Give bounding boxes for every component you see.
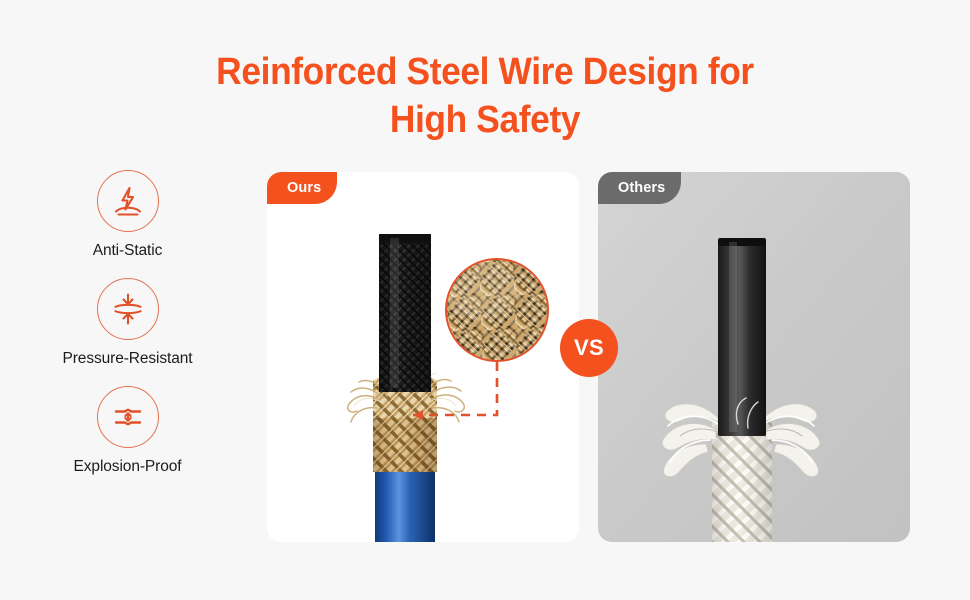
explosion-proof-icon xyxy=(97,386,159,448)
badge-others: Others xyxy=(598,172,681,204)
feature-item-anti-static: Anti-Static xyxy=(20,170,235,260)
feature-list: Anti-Static Pressure-Resistant xyxy=(20,170,235,494)
anti-static-icon xyxy=(97,170,159,232)
feature-label-anti-static: Anti-Static xyxy=(20,242,235,260)
vs-badge: VS xyxy=(560,319,618,377)
page-title: Reinforced Steel Wire Design for High Sa… xyxy=(0,48,970,144)
page-title-line-2: High Safety xyxy=(34,96,936,144)
vs-label: VS xyxy=(574,335,604,361)
badge-ours-label: Ours xyxy=(287,180,321,196)
ours-product-photo xyxy=(267,172,579,542)
feature-label-explosion-proof: Explosion-Proof xyxy=(20,458,235,476)
feature-item-explosion-proof: Explosion-Proof xyxy=(20,386,235,476)
feature-item-pressure-resistant: Pressure-Resistant xyxy=(20,278,235,368)
badge-ours: Ours xyxy=(267,172,337,204)
panel-ours: Ours xyxy=(267,172,579,542)
others-product-photo xyxy=(598,172,910,542)
page-title-line-1: Reinforced Steel Wire Design for xyxy=(34,48,936,96)
badge-others-label: Others xyxy=(618,180,665,196)
pressure-resistant-icon xyxy=(97,278,159,340)
braid-zoom-detail xyxy=(445,258,549,362)
feature-label-pressure-resistant: Pressure-Resistant xyxy=(20,350,235,368)
panel-others: Others xyxy=(598,172,910,542)
comparison-section: Ours xyxy=(267,172,910,542)
